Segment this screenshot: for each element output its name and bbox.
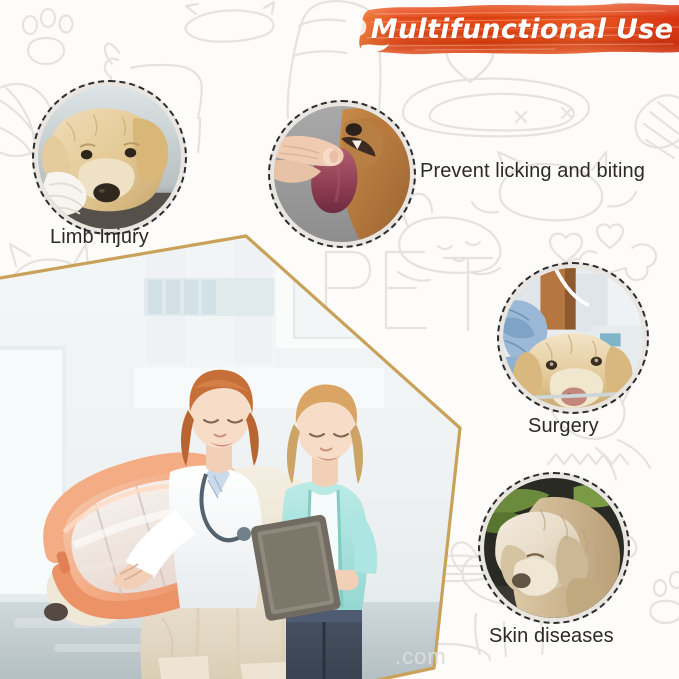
prevent-licking-image — [274, 106, 410, 242]
skin-diseases-image — [484, 478, 624, 618]
banner-title: Multifunctional Use — [355, 2, 679, 57]
dog-bed-doodle — [403, 79, 589, 137]
feature-photo-limb-injury — [32, 80, 187, 235]
paw-print-doodle-2 — [650, 572, 679, 623]
paw-print-doodle — [23, 9, 73, 64]
title-banner: Multifunctional Use — [355, 2, 679, 57]
brush-doodle — [636, 95, 679, 158]
feature-photo-skin-diseases — [478, 472, 630, 624]
main-product-photo — [0, 228, 464, 679]
caption-limb-injury: Limb Injury — [50, 226, 149, 249]
infographic-canvas: Multifunctional Use — [0, 0, 679, 679]
collar-doodle — [548, 454, 628, 464]
heart-doodle-2 — [550, 224, 623, 262]
bone-doodle-4 — [185, 2, 274, 42]
caption-prevent-licking: Prevent licking and biting — [420, 160, 645, 183]
caption-surgery: Surgery — [528, 415, 599, 438]
feature-photo-prevent-licking — [268, 100, 416, 248]
caption-skin-diseases: Skin diseases — [489, 625, 614, 648]
feature-photo-surgery — [497, 262, 649, 414]
surgery-image — [503, 268, 643, 408]
limb-injury-image — [38, 86, 181, 229]
